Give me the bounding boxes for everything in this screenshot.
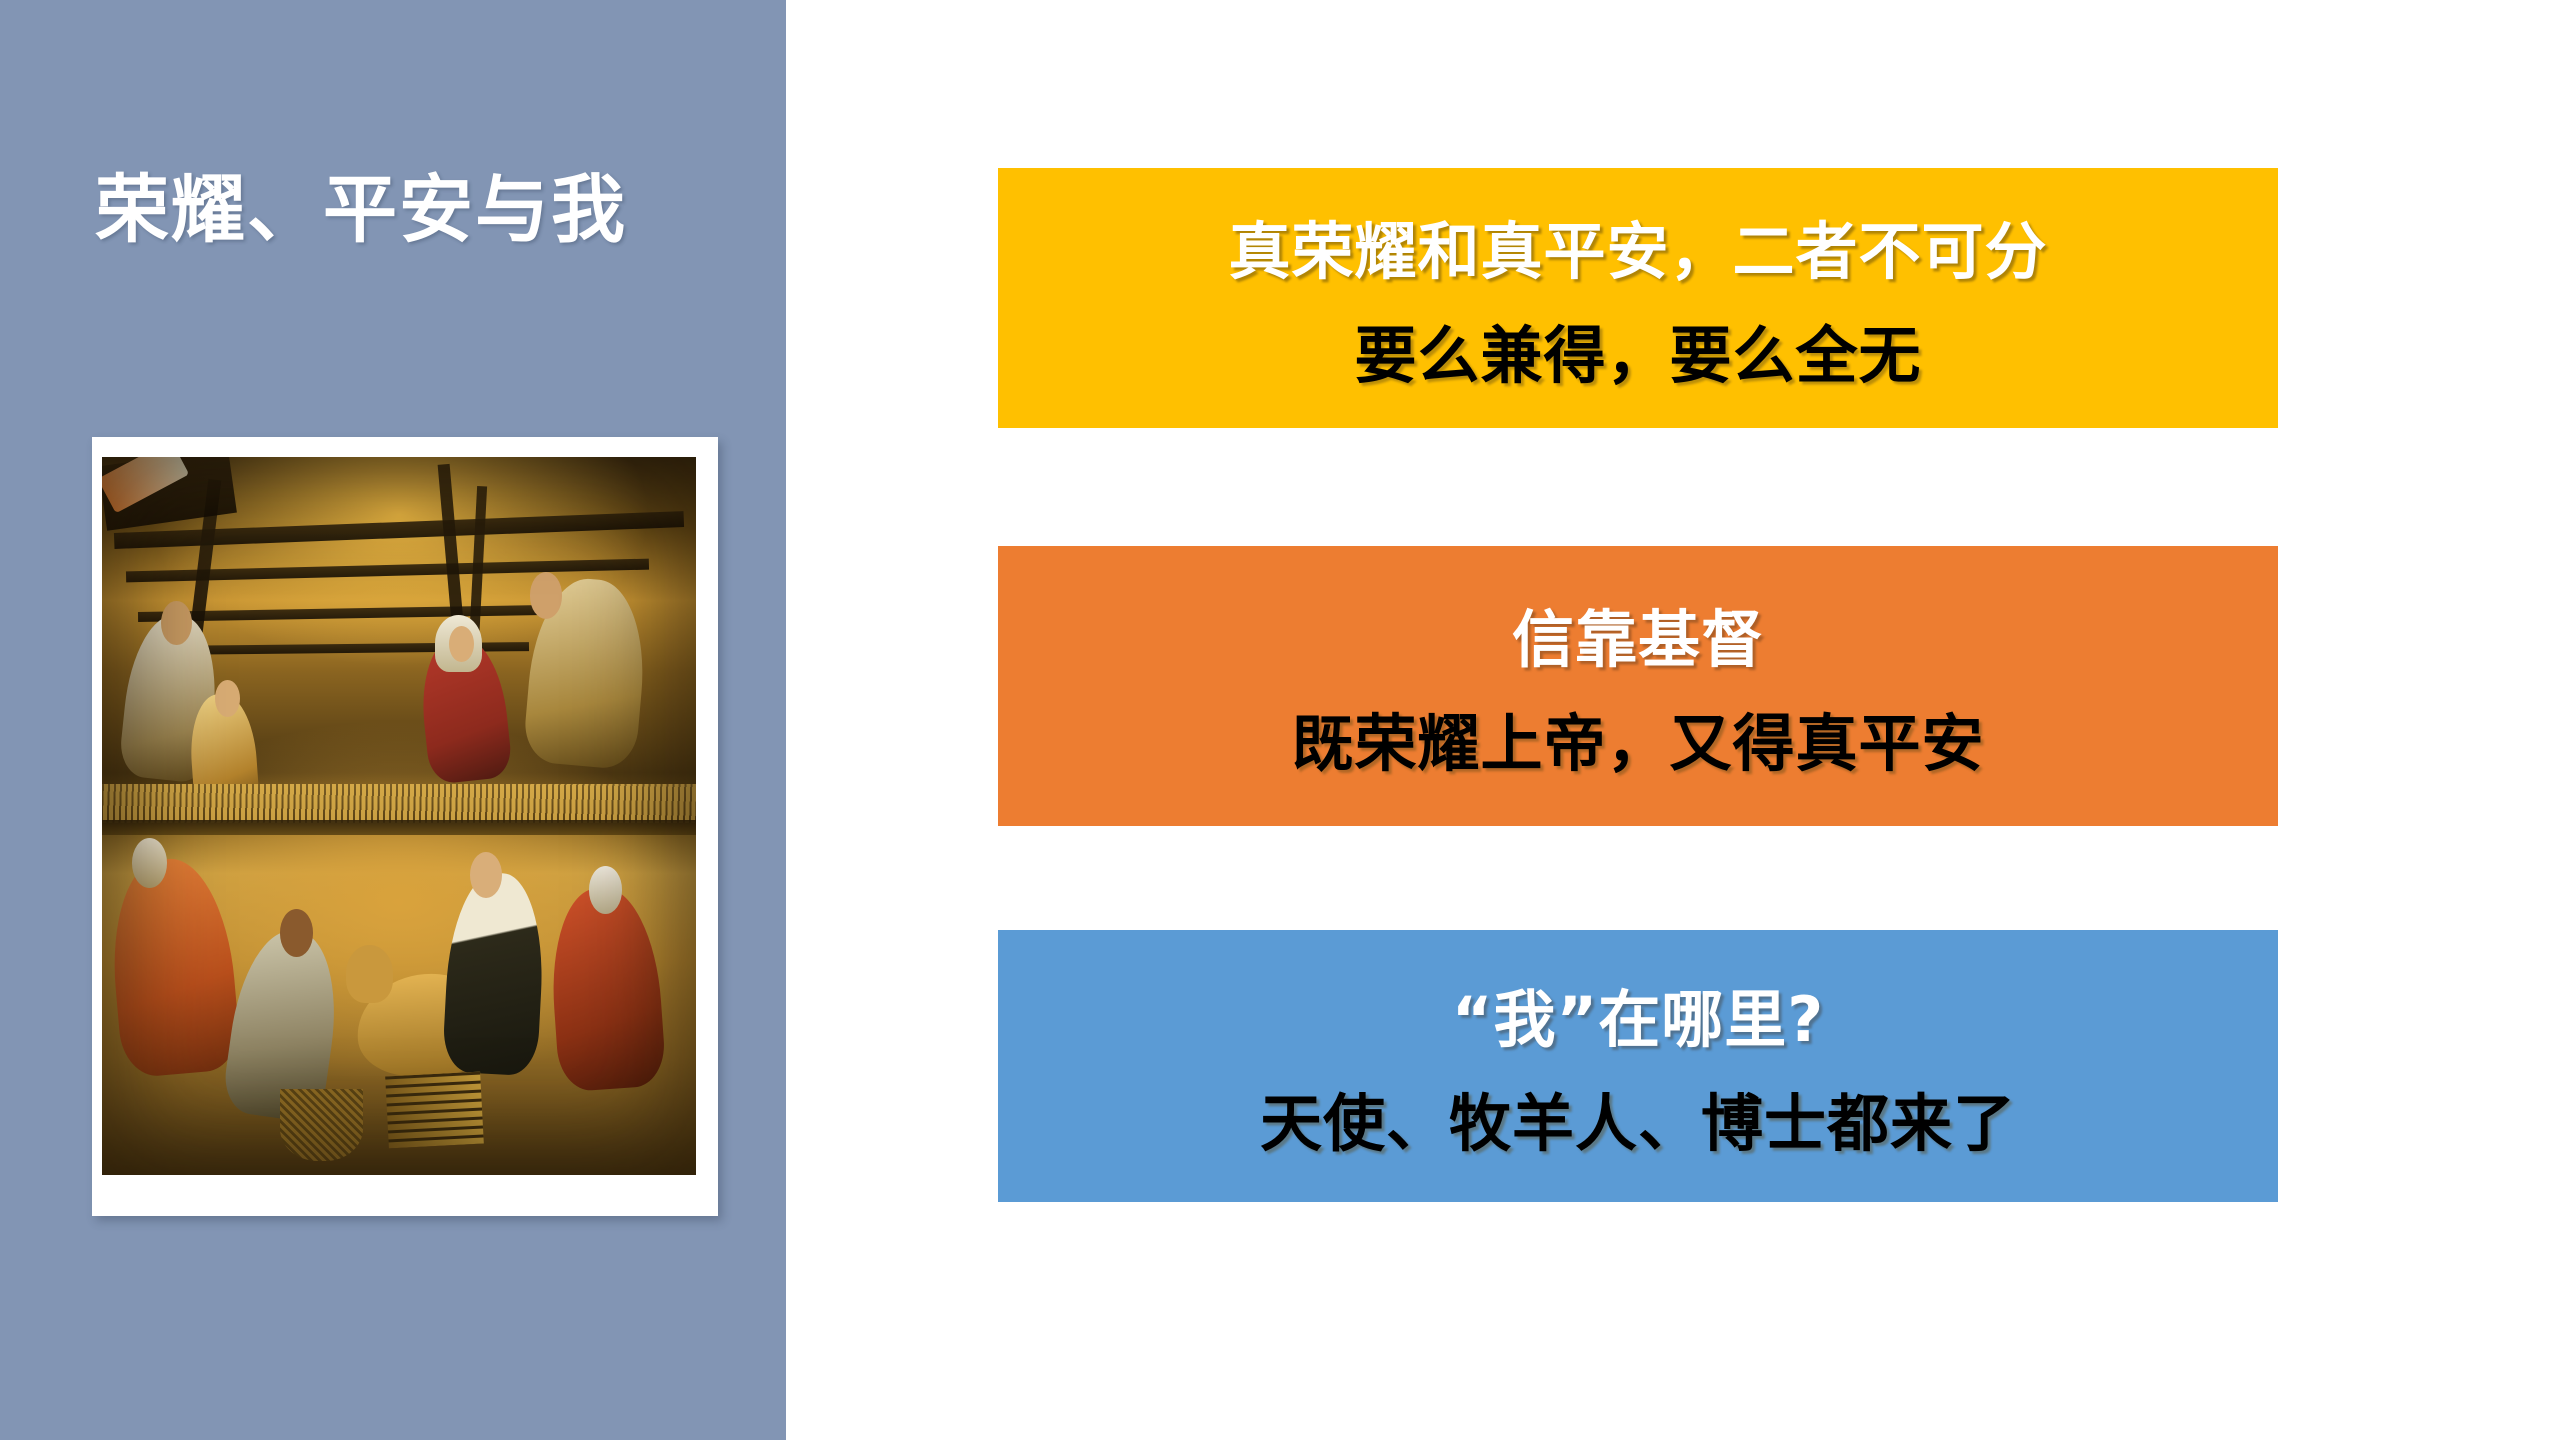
painting-frame: [92, 437, 718, 1216]
message-box-truth-line2: 要么兼得，要么全无: [1354, 305, 1921, 395]
message-box-me-line1: “我”在哪里?: [1452, 969, 1824, 1059]
message-box-truth-line1: 真荣耀和真平安，二者不可分: [1228, 201, 2047, 291]
message-box-trust: 信靠基督 既荣耀上帝，又得真平安: [998, 546, 2278, 826]
page-title: 荣耀、平安与我: [95, 168, 735, 253]
message-box-trust-line1: 信靠基督: [1512, 589, 1764, 679]
message-box-me-line2: 天使、牧羊人、博士都来了: [1260, 1073, 2016, 1163]
message-box-truth: 真荣耀和真平安，二者不可分 要么兼得，要么全无: [998, 168, 2278, 428]
nativity-painting-image: [102, 457, 696, 1175]
presentation-slide: 荣耀、平安与我: [0, 0, 2560, 1440]
message-box-me: “我”在哪里? 天使、牧羊人、博士都来了: [998, 930, 2278, 1202]
message-box-trust-line2: 既荣耀上帝，又得真平安: [1291, 693, 1984, 783]
